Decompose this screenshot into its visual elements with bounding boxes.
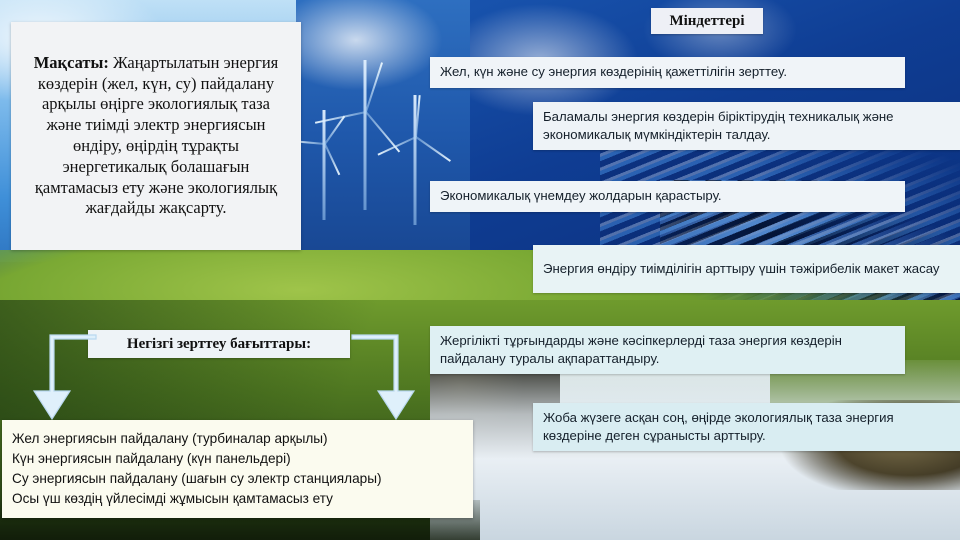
task-item-6: Жоба жүзеге асқан соң, өңірде экологиялы…	[533, 403, 960, 451]
directions-title: Негізгі зерттеу бағыттары:	[88, 330, 350, 358]
direction-item-1: Жел энергиясын пайдалану (турбиналар арқ…	[12, 429, 463, 449]
goal-box: Мақсаты: Жаңартылатын энергия көздерін (…	[11, 22, 301, 250]
elbow-arrow-down-left-icon	[30, 333, 100, 421]
elbow-arrow-down-right-icon	[348, 333, 418, 421]
direction-item-3: Су энергиясын пайдалану (шағын су электр…	[12, 469, 463, 489]
task-item-1: Жел, күн және су энергия көздерінің қаже…	[430, 57, 905, 88]
directions-list: Жел энергиясын пайдалану (турбиналар арқ…	[2, 420, 473, 518]
goal-text: Мақсаты: Жаңартылатын энергия көздерін (…	[23, 53, 289, 219]
direction-item-4: Осы үш көздің үйлесімді жұмысын қамтамас…	[12, 489, 463, 509]
task-item-2: Баламалы энергия көздерін біріктірудің т…	[533, 102, 960, 150]
slide-canvas: Мақсаты: Жаңартылатын энергия көздерін (…	[0, 0, 960, 540]
task-item-3: Экономикалық үнемдеу жолдарын қарастыру.	[430, 181, 905, 212]
wind-turbine-icon-3	[300, 110, 348, 220]
goal-body: Жаңартылатын энергия көздерін (жел, күн,…	[35, 53, 278, 217]
direction-item-2: Күн энергиясын пайдалану (күн панельдері…	[12, 449, 463, 469]
task-item-4: Энергия өндіру тиімділігін арттыру үшін …	[533, 245, 960, 293]
tasks-title: Міндеттері	[651, 8, 763, 34]
task-item-5: Жергілікті тұрғындарды және кәсіпкерлерд…	[430, 326, 905, 374]
goal-label: Мақсаты:	[34, 53, 109, 72]
